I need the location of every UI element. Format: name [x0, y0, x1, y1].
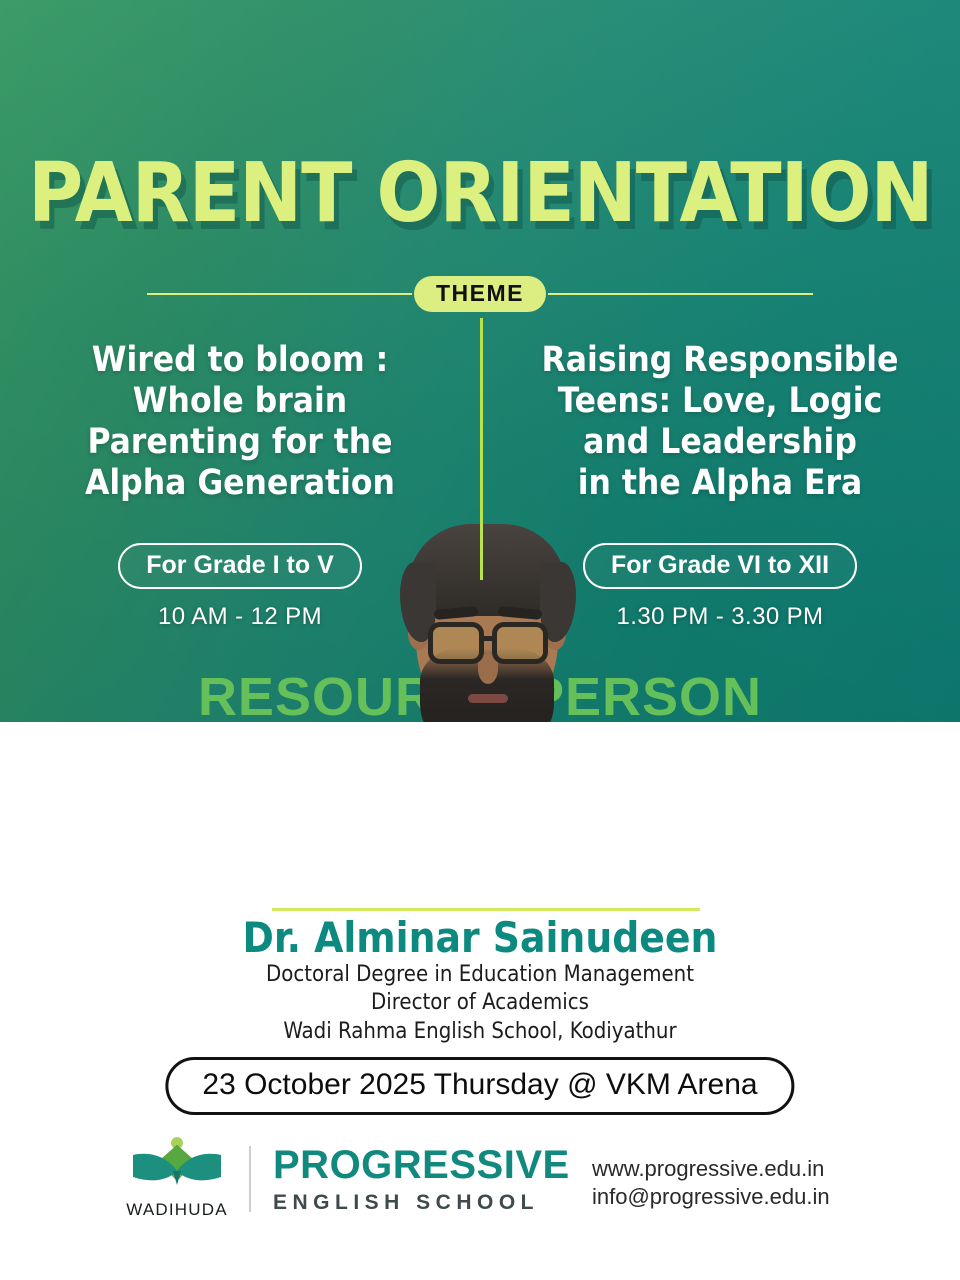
speaker-name: Dr. Alminar Sainudeen	[0, 915, 960, 961]
contact-website: www.progressive.edu.in	[592, 1155, 830, 1183]
speaker-block: Dr. Alminar Sainudeen Doctoral Degree in…	[0, 915, 960, 1046]
theme-title-secondary: Raising ResponsibleTeens: Love, Logicand…	[498, 340, 942, 504]
poster-title: PARENT ORIENTATION	[28, 155, 932, 233]
contact-block: www.progressive.edu.in info@progressive.…	[592, 1155, 830, 1211]
contact-email: info@progressive.edu.in	[592, 1183, 830, 1211]
theme-title-primary: Wired to bloom :Whole brainParenting for…	[18, 340, 462, 504]
session-secondary: For Grade VI to XII 1.30 PM - 3.30 PM	[480, 543, 960, 631]
photo-glasses-bridge	[483, 636, 495, 641]
poster: RESOURCE PERSON ❯ PARENT ORIENTATION THE…	[0, 0, 960, 1280]
brand-lockup: WADIHUDA PROGRESSIVE ENGLISH SCHOOL	[125, 1137, 570, 1220]
theme-column-primary: Wired to bloom :Whole brainParenting for…	[0, 340, 480, 504]
grade-session-row: For Grade I to V 10 AM - 12 PM For Grade…	[0, 543, 960, 631]
speaker-designation: Director of Academics	[0, 989, 960, 1017]
school-name: PROGRESSIVE	[273, 1145, 570, 1185]
footer: WADIHUDA PROGRESSIVE ENGLISH SCHOOL www.…	[0, 1135, 960, 1245]
theme-badge: THEME	[414, 276, 546, 312]
event-date-badge: 23 October 2025 Thursday @ VKM Arena	[165, 1057, 794, 1115]
theme-divider-row: THEME	[0, 276, 960, 312]
speaker-credential: Doctoral Degree in Education Management	[0, 961, 960, 989]
photo-mouth	[468, 694, 508, 703]
theme-column-secondary: Raising ResponsibleTeens: Love, Logicand…	[480, 340, 960, 504]
theme-columns: Wired to bloom :Whole brainParenting for…	[0, 340, 960, 504]
wadihuda-logo: WADIHUDA	[125, 1137, 229, 1220]
grade-badge-secondary: For Grade VI to XII	[583, 543, 857, 589]
theme-rule-left	[147, 293, 412, 295]
session-primary: For Grade I to V 10 AM - 12 PM	[0, 543, 480, 631]
wadihuda-wordmark: WADIHUDA	[125, 1200, 229, 1220]
theme-rule-right	[548, 293, 813, 295]
brand-separator	[249, 1146, 251, 1212]
speaker-affiliation: Wadi Rahma English School, Kodiyathur	[0, 1018, 960, 1046]
school-wordmark: PROGRESSIVE ENGLISH SCHOOL	[273, 1145, 570, 1213]
grade-badge-primary: For Grade I to V	[118, 543, 362, 589]
wadihuda-book-icon	[129, 1137, 225, 1193]
poster-title-wrap: PARENT ORIENTATION	[0, 155, 960, 233]
session-time-primary: 10 AM - 12 PM	[158, 603, 322, 631]
school-subtitle: ENGLISH SCHOOL	[273, 1192, 570, 1213]
session-time-secondary: 1.30 PM - 3.30 PM	[617, 603, 824, 631]
speaker-name-rule	[272, 908, 700, 911]
